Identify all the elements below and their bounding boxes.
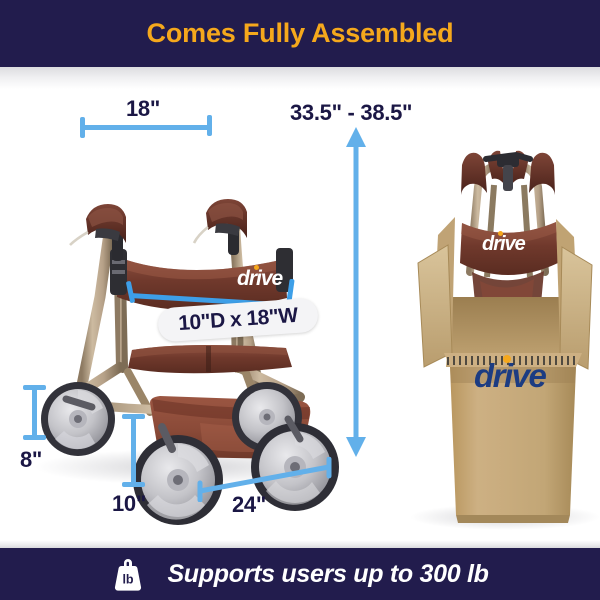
dimension-cap-bottom-rear-wheel xyxy=(122,482,145,487)
weight-lb-icon: lb xyxy=(111,556,145,592)
dimension-cap-left-handle-width xyxy=(80,117,85,138)
dimension-label-wheelbase: 24" xyxy=(232,492,266,518)
brand-logo-dot-boxed xyxy=(498,231,503,236)
weight-icon-label: lb xyxy=(123,573,134,587)
brand-logo-dot-box xyxy=(503,355,511,363)
dimension-label-front-wheel: 8" xyxy=(20,447,42,473)
dimension-cap-bottom-front-wheel xyxy=(23,435,46,440)
footer-banner: lb Supports users up to 300 lb xyxy=(0,548,600,600)
dimension-bar-front-wheel xyxy=(32,385,37,440)
infographic-page: Comes Fully Assembled xyxy=(0,0,600,600)
dimension-bar-rear-wheel xyxy=(131,414,136,487)
header-banner: Comes Fully Assembled xyxy=(0,0,600,67)
brand-logo-dot-backrest xyxy=(254,265,259,270)
dimension-label-handle-width: 18" xyxy=(126,96,160,122)
page-title: Comes Fully Assembled xyxy=(147,18,454,49)
footer-divider xyxy=(0,540,600,548)
dimension-cap-right-handle-width xyxy=(207,115,212,136)
footer-text: Supports users up to 300 lb xyxy=(167,560,488,589)
brand-logo-box: drive xyxy=(474,357,545,395)
dimension-bar-handle-width xyxy=(80,125,212,130)
product-illustration-area: drive drive drive 18" 33.5" - 38.5" 1 xyxy=(0,67,600,540)
dimension-label-overall-height: 33.5" - 38.5" xyxy=(290,100,412,126)
dimension-cap-top-rear-wheel xyxy=(122,414,145,419)
brand-logo-backrest: drive xyxy=(237,267,282,291)
dimension-label-rear-wheel: 10" xyxy=(112,491,146,517)
dimension-cap-top-front-wheel xyxy=(23,385,46,390)
dimension-arrow-overall-height xyxy=(338,127,374,457)
brand-logo-backrest-boxed: drive xyxy=(482,233,525,256)
